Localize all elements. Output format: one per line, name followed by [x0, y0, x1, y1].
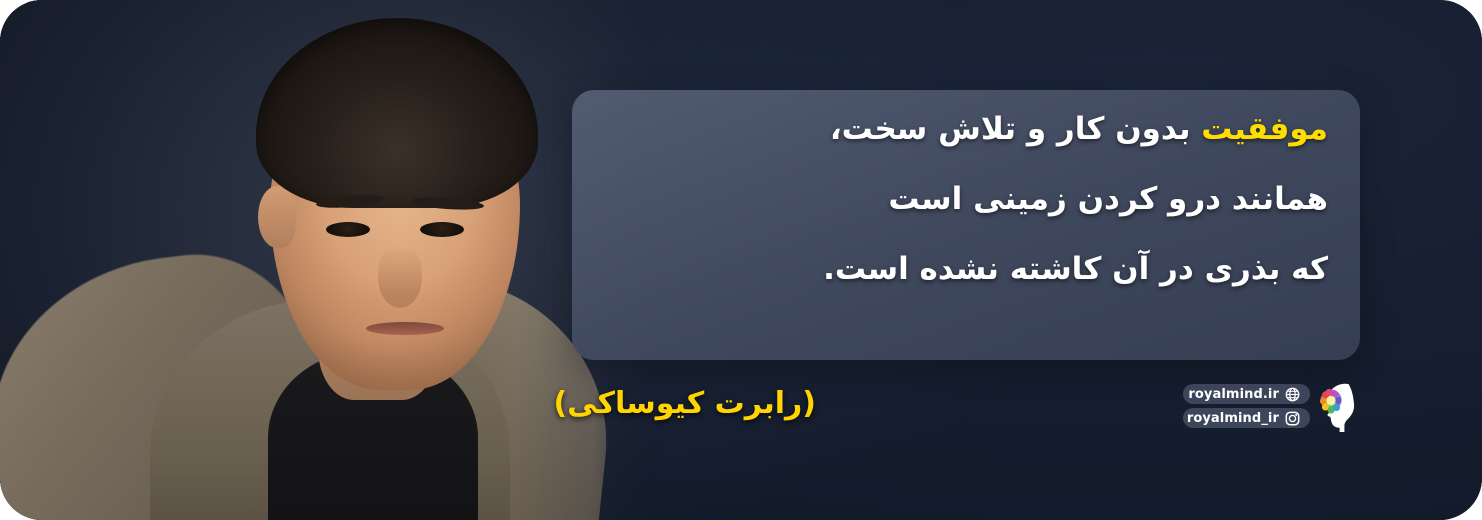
ear — [258, 186, 296, 248]
portrait-photo — [0, 0, 660, 520]
card-surface: موفقیت بدون کار و تلاش سخت، همانند درو ک… — [0, 0, 1482, 520]
author-attribution: (رابرت کیوساکی) — [556, 386, 816, 421]
quote-highlight-word: موفقیت — [1201, 111, 1328, 147]
portrait-figure — [0, 0, 660, 520]
quote-graphic-canvas: موفقیت بدون کار و تلاش سخت، همانند درو ک… — [0, 0, 1482, 520]
royalmind-head-logo — [1318, 378, 1362, 434]
hair — [256, 18, 538, 208]
quote-line-1-rest: بدون کار و تلاش سخت، — [830, 111, 1201, 147]
brand-pill-list: royalmind.ir royalmind_ir — [1183, 384, 1310, 428]
instagram-pill-label: royalmind_ir — [1187, 412, 1279, 425]
quote-text: موفقیت بدون کار و تلاش سخت، همانند درو ک… — [572, 114, 1328, 285]
instagram-pill[interactable]: royalmind_ir — [1183, 408, 1310, 428]
eye-right — [420, 222, 464, 237]
quote-card: موفقیت بدون کار و تلاش سخت، همانند درو ک… — [572, 90, 1360, 360]
eye-left — [326, 222, 370, 237]
globe-icon — [1285, 387, 1300, 402]
quote-line-1: موفقیت بدون کار و تلاش سخت، — [572, 114, 1328, 145]
mouth — [366, 322, 444, 335]
instagram-icon — [1285, 411, 1300, 426]
website-pill-label: royalmind.ir — [1188, 388, 1279, 401]
website-pill[interactable]: royalmind.ir — [1183, 384, 1310, 404]
nose — [378, 246, 422, 308]
quote-line-3: که بذری در آن کاشته نشده است. — [572, 254, 1328, 285]
quote-line-2: همانند درو کردن زمینی است — [572, 184, 1328, 215]
brand-block: royalmind.ir royalmind_ir — [1190, 374, 1362, 438]
